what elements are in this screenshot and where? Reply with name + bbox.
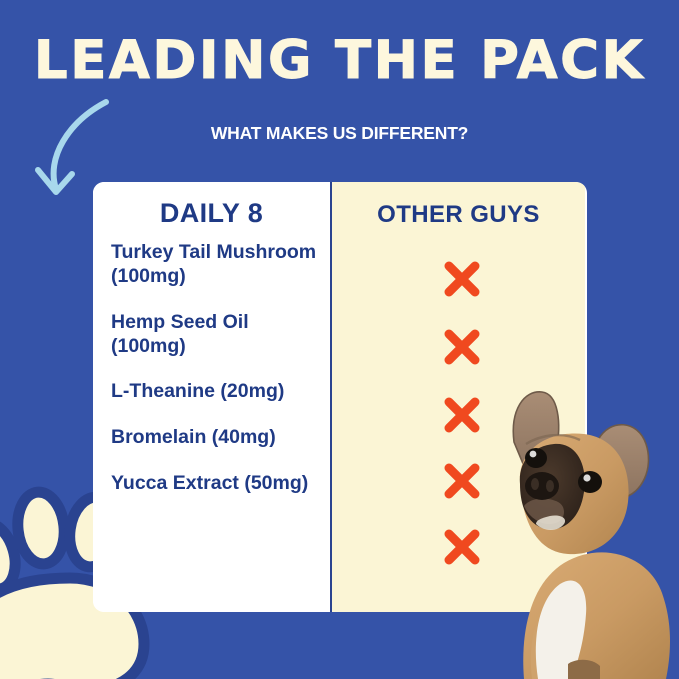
list-item: Bromelain (40mg) [111,426,321,450]
comparison-card: DAILY 8 Turkey Tail Mushroom (100mg) Hem… [93,182,587,612]
list-item: L-Theanine (20mg) [111,380,321,404]
x-mark-icon [440,525,484,569]
x-mark-icon [440,393,484,437]
x-mark-column [332,182,585,612]
x-mark-icon [440,325,484,369]
ingredient-list: Turkey Tail Mushroom (100mg) Hemp Seed O… [93,227,330,495]
daily8-panel: DAILY 8 Turkey Tail Mushroom (100mg) Hem… [93,182,332,612]
page-title: LEADING THE PACK [0,34,679,87]
infographic-canvas: LEADING THE PACK WHAT MAKES US DIFFERENT… [0,0,679,679]
list-item: Hemp Seed Oil (100mg) [111,311,321,359]
x-mark-icon [440,257,484,301]
list-item: Turkey Tail Mushroom (100mg) [111,241,321,289]
column-header-daily8: DAILY 8 [93,182,330,227]
other-guys-panel: OTHER GUYS [332,182,585,612]
column-header-other-guys: OTHER GUYS [332,182,585,227]
page-subtitle: WHAT MAKES US DIFFERENT? [0,125,679,143]
list-item: Yucca Extract (50mg) [111,472,321,496]
x-mark-icon [440,459,484,503]
